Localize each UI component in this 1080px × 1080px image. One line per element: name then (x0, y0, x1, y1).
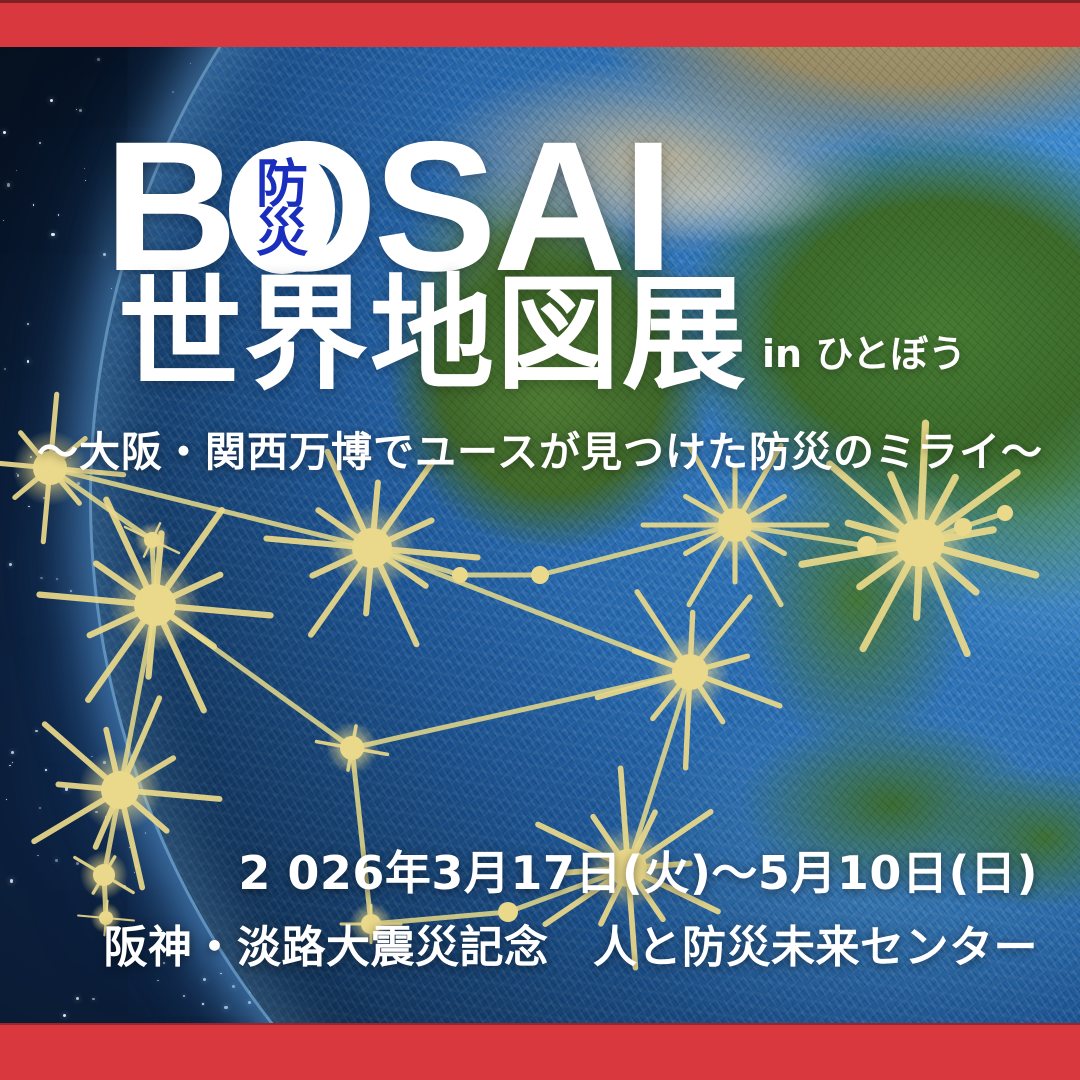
bottom-red-band (0, 1023, 1080, 1080)
top-red-band (0, 0, 1080, 47)
globe-inner-glow (92, 0, 1080, 1080)
earth-globe (92, 0, 1080, 1080)
bottom-red-band-fill (0, 1023, 1080, 1080)
top-red-band-fill (0, 0, 1080, 47)
poster-root: BOSAI 防 災 世界地図展 in ひとぼう 〜大阪・関西万博でユースが見つけ… (0, 0, 1080, 1080)
